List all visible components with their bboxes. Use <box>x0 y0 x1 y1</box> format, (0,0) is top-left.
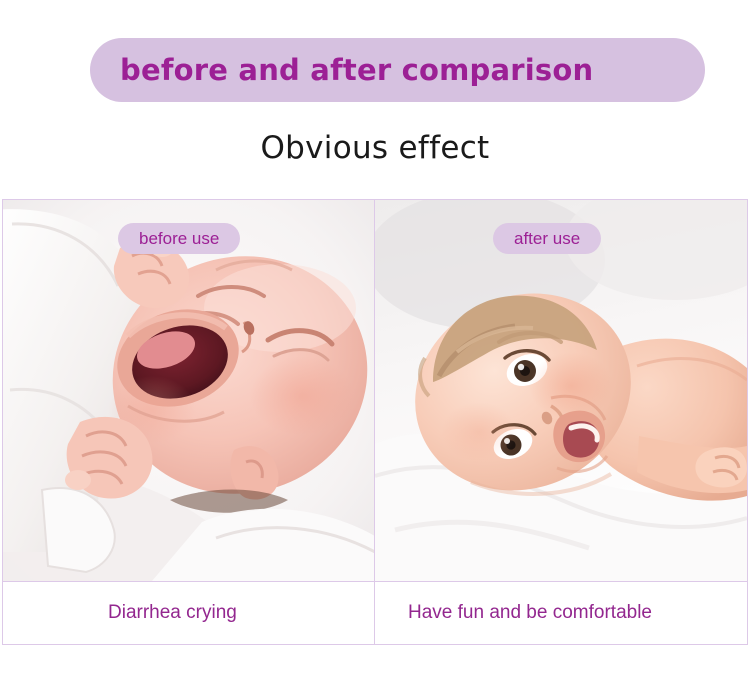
before-panel: before use <box>3 200 375 581</box>
before-caption-cell: Diarrhea crying <box>3 582 375 644</box>
after-caption-text: Have fun and be comfortable <box>408 602 652 624</box>
badge-after-use: after use <box>493 223 601 254</box>
comparison-grid: before use <box>2 199 748 645</box>
caption-row: Diarrhea crying Have fun and be comforta… <box>3 581 747 644</box>
before-caption-text: Diarrhea crying <box>108 602 237 624</box>
crying-baby-photo <box>3 200 374 581</box>
badge-before-use: before use <box>118 223 240 254</box>
smiling-baby-photo <box>375 200 747 581</box>
subtitle: Obvious effect <box>0 130 750 166</box>
after-panel: after use <box>375 200 747 581</box>
page-title: before and after comparison <box>90 53 593 87</box>
after-caption-cell: Have fun and be comfortable <box>375 582 747 644</box>
header-banner: before and after comparison <box>90 38 705 102</box>
photo-row: before use <box>3 200 747 581</box>
